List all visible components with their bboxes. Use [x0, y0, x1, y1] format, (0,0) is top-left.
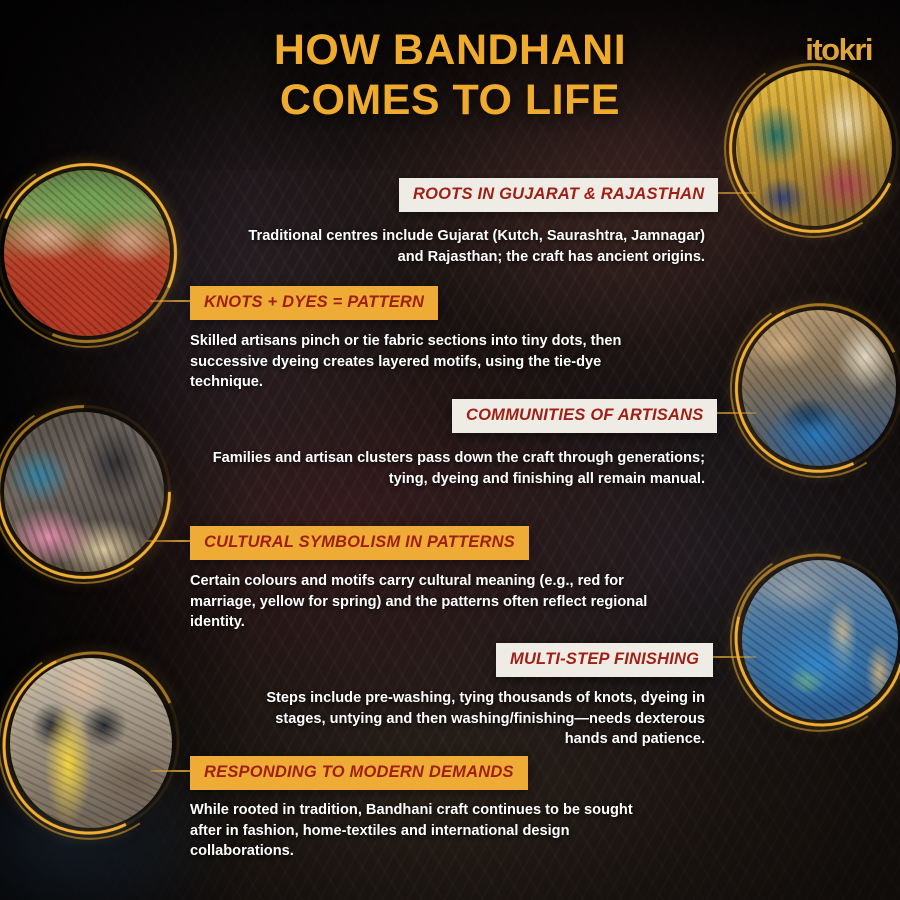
- connector-line-knots: [150, 300, 192, 302]
- section-badge-communities[interactable]: COMMUNITIES OF ARTISANS: [452, 399, 717, 433]
- section-badge-roots[interactable]: ROOTS IN GUJARAT & RAJASTHAN: [399, 178, 718, 212]
- photo-image: [4, 170, 170, 336]
- section-badge-finishing[interactable]: MULTI-STEP FINISHING: [496, 643, 713, 677]
- connector-line-symbolism: [146, 540, 190, 542]
- connector-line-modern: [150, 770, 192, 772]
- title-line-1: HOW BANDHANI: [274, 26, 626, 74]
- photo-yellow-dye-lift: [10, 658, 172, 828]
- section-body-roots: Traditional centres include Gujarat (Kut…: [230, 226, 705, 267]
- section-badge-symbolism[interactable]: CULTURAL SYMBOLISM IN PATTERNS: [190, 526, 529, 560]
- photo-image: [742, 560, 898, 720]
- section-badge-knots[interactable]: KNOTS + DYES = PATTERN: [190, 286, 438, 320]
- section-body-modern: While rooted in tradition, Bandhani craf…: [190, 800, 655, 862]
- photo-indigo-vat: [742, 560, 898, 720]
- brand-logo[interactable]: itokri: [805, 32, 872, 68]
- section-body-symbolism: Certain colours and motifs carry cultura…: [190, 571, 660, 633]
- photo-image: [736, 70, 892, 226]
- section-badge-modern[interactable]: RESPONDING TO MODERN DEMANDS: [190, 756, 528, 790]
- section-body-knots: Skilled artisans pinch or tie fabric sec…: [190, 331, 660, 393]
- photo-indigo-dip: [742, 310, 896, 466]
- infographic-poster: HOW BANDHANI COMES TO LIFE itokri: [0, 0, 900, 900]
- photo-two-women-yellow-wall: [736, 70, 892, 226]
- photo-image: [742, 310, 896, 466]
- section-body-finishing: Steps include pre-washing, tying thousan…: [265, 688, 705, 750]
- section-body-communities: Families and artisan clusters pass down …: [205, 448, 705, 489]
- photo-image: [4, 412, 164, 572]
- photo-tying-red-fabric: [4, 170, 170, 336]
- photo-women-artisans: [4, 412, 164, 572]
- photo-image: [10, 658, 172, 828]
